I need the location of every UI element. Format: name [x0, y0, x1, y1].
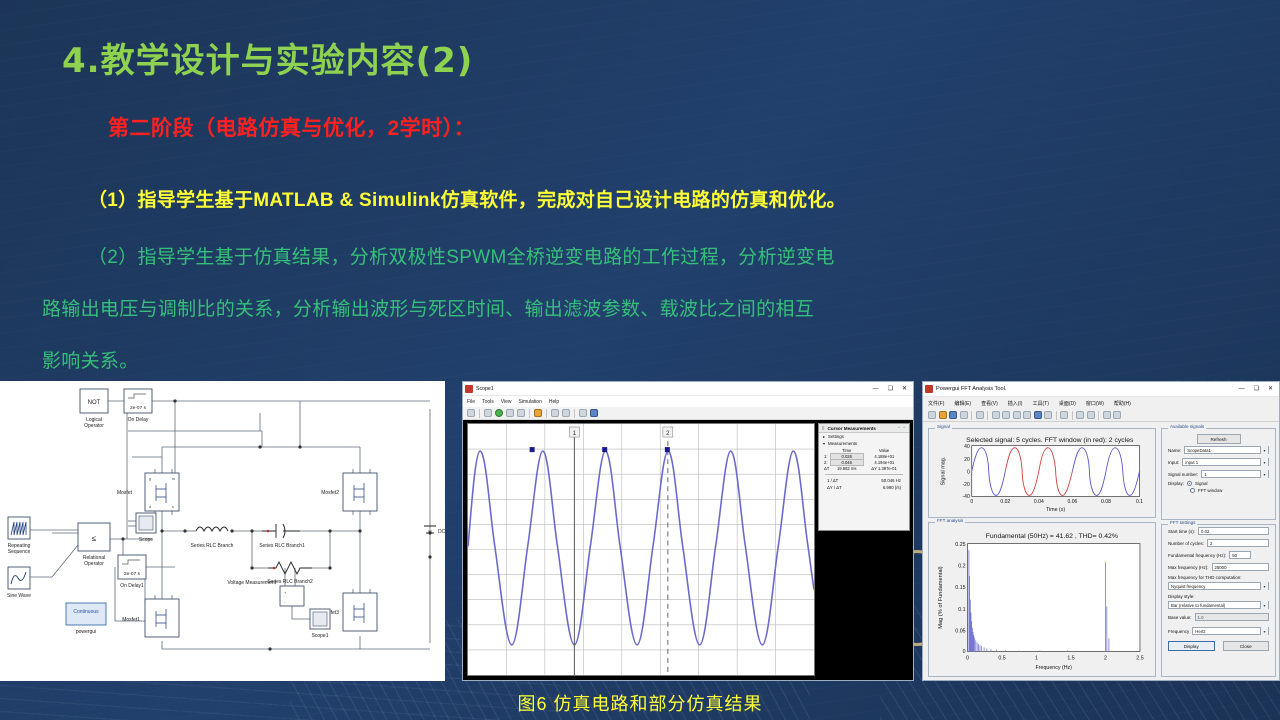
fft-titlebar[interactable]: Powergui FFT Analysis Tool. — ❑ ✕	[923, 382, 1279, 397]
svg-text:NOT: NOT	[88, 400, 101, 406]
base-value-row: Base value: 1.0	[1162, 611, 1275, 623]
svg-text:-20: -20	[962, 482, 970, 488]
svg-text:0.02: 0.02	[1000, 499, 1010, 505]
run-icon[interactable]	[495, 409, 503, 417]
svg-text:20: 20	[964, 457, 970, 463]
close-icon[interactable]: ✕	[1268, 386, 1273, 392]
base-value-input: 1.0	[1195, 613, 1269, 621]
dock-grip-icon[interactable]: ⁞⁞	[822, 426, 824, 431]
svg-text:1: 1	[1035, 655, 1038, 661]
frequency-select[interactable]: Hertz ▾	[1192, 627, 1269, 635]
block-mosfet2: Mosfet2	[321, 473, 377, 511]
svg-text:2: 2	[1104, 655, 1107, 661]
block-relational-operator: ≤ Relational Operator	[78, 523, 110, 567]
svg-text:0.1: 0.1	[1136, 499, 1143, 505]
footer-row-frequency: 1 / ΔT 50.046 Hz	[825, 477, 903, 484]
inv-delta-t-label: 1 / ΔT	[827, 478, 838, 483]
section-subtitle: 第二阶段（电路仿真与优化，2学时）：	[108, 112, 475, 142]
toolbar-separator-3	[1056, 411, 1057, 420]
save-icon[interactable]	[949, 411, 957, 419]
colorbar-icon[interactable]	[1076, 411, 1084, 419]
name-label: Name:	[1168, 448, 1181, 453]
delta-y-value: 1.397e-01	[878, 466, 897, 471]
zoom-in-icon[interactable]	[992, 411, 1000, 419]
measurements-section-toggle[interactable]: ▾ Measurements	[819, 440, 909, 447]
menu-tools[interactable]: 工具(T)	[1032, 400, 1048, 407]
block-repeating-sequence: Repeating Sequence	[8, 517, 31, 555]
fft-menubar[interactable]: 文件(F) 编辑(E) 查看(V) 插入(I) 工具(T) 桌面(D) 窗口(W…	[923, 397, 1279, 409]
svg-text:-40: -40	[962, 494, 970, 500]
cursor-measurements-panel[interactable]: ⁞⁞ Cursor Measurements ▫ ▫ ▸ Settings ▾ …	[818, 423, 910, 531]
input-field-row: Input: input 1 ▾	[1162, 456, 1275, 468]
page-title: 4.教学设计与实验内容(2)	[62, 33, 473, 82]
fft-settings-group: FFT settings Start time (s): 0.02 Number…	[1161, 524, 1276, 677]
thd-row: Nyquist frequency ▾	[1162, 580, 1275, 592]
toolbar-separator-4	[1072, 411, 1073, 420]
menu-window[interactable]: 窗口(W)	[1086, 400, 1104, 407]
expanded-caret-icon: ▾	[823, 441, 825, 446]
slope-value: 6.990 (/s)	[883, 485, 901, 490]
menu-edit[interactable]: 编辑(E)	[954, 400, 971, 407]
svg-text:0: 0	[970, 499, 973, 505]
menu-desktop[interactable]: 桌面(D)	[1059, 400, 1076, 407]
signal-number-label: Signal number:	[1168, 472, 1198, 477]
block-mosfet: g m d s Mosfet	[117, 473, 179, 511]
close-button[interactable]: Close	[1223, 641, 1270, 651]
svg-text:On Delay1: On Delay1	[120, 583, 144, 589]
svg-text:0.5: 0.5	[998, 655, 1005, 661]
close-icon[interactable]: ✕	[902, 386, 907, 392]
toolbar-separator	[971, 411, 972, 420]
scope-window-title: Scope1	[476, 386, 870, 392]
menu-insert[interactable]: 插入(I)	[1008, 400, 1023, 407]
name-value: ScopeData1	[1187, 448, 1211, 453]
block-powergui: Continuous powergui	[66, 603, 106, 635]
cursor-measurements-footer: 1 / ΔT 50.046 Hz ΔY / ΔT 6.990 (/s)	[825, 474, 903, 491]
block-scope: Scope	[136, 513, 156, 543]
zoom-icon[interactable]	[562, 409, 570, 417]
block-series-rlc-branch: Series RLC Branch	[191, 527, 234, 549]
figure-screenshot-strip: Repeating Sequence Sine Wave ≤ Relationa…	[0, 381, 1280, 681]
refresh-button[interactable]: Refresh	[1197, 434, 1241, 444]
toolbar-separator-2	[529, 409, 530, 418]
svg-text:Continuous: Continuous	[73, 609, 99, 615]
dock-controls-icon[interactable]: ▫ ▫	[898, 425, 906, 431]
frequency-row: Frequency Hertz ▾	[1162, 623, 1275, 637]
radio-signal-icon[interactable]	[1187, 481, 1192, 486]
display-style-value: Bar (relative to fundamental)	[1171, 603, 1225, 608]
fft-window-title: Powergui FFT Analysis Tool.	[936, 386, 1236, 392]
display-label: Display:	[1168, 481, 1184, 486]
svg-text:powergui: powergui	[76, 629, 96, 635]
svg-text:Operator: Operator	[84, 561, 104, 567]
toolbar-separator-5	[1098, 411, 1099, 420]
start-time-input[interactable]: 0.02	[1198, 527, 1269, 535]
svg-text:0.1: 0.1	[958, 607, 965, 613]
svg-text:d: d	[149, 505, 151, 509]
scope-toolbar[interactable]	[463, 407, 913, 420]
fft-spectrum-svg: Fundamental (50Hz) = 41.62 , THD= 0.42% …	[933, 527, 1151, 672]
pointer-icon[interactable]	[976, 411, 984, 419]
paragraph-2-line-3: 影响关系。	[42, 346, 139, 373]
toolbar-separator-2	[987, 411, 988, 420]
available-signals-group: Available signals Refresh Name: ScopeDat…	[1161, 428, 1276, 520]
fft-settings-label: FFT settings	[1168, 520, 1197, 525]
slope-label: ΔY / ΔT	[827, 485, 842, 490]
svg-text:DC: DC	[438, 529, 445, 535]
input-select[interactable]: input 1 ▾	[1182, 458, 1269, 466]
svg-text:Signal mag.: Signal mag.	[940, 456, 946, 485]
chevron-down-icon[interactable]: ▾	[1260, 458, 1268, 466]
scope-menubar[interactable]: File Tools View Simulation Help	[463, 396, 913, 407]
matlab-icon	[925, 385, 933, 393]
svg-text:Mosfet2: Mosfet2	[321, 490, 339, 496]
svg-text:1.5: 1.5	[1067, 655, 1074, 661]
signal-number-select[interactable]: 1 ▾	[1201, 470, 1269, 478]
svg-text:Series RLC Branch: Series RLC Branch	[191, 543, 234, 549]
name-field-row: Name: ScopeData1 ▾	[1162, 444, 1275, 456]
signal-number-value: 1	[1204, 472, 1206, 477]
fft-toolbar[interactable]	[923, 409, 1279, 422]
menu-help[interactable]: Help	[549, 399, 559, 405]
fundamental-row: Fundamental frequency (Hz): 50	[1162, 549, 1275, 561]
display-radio-row-2: FFT window	[1162, 487, 1275, 494]
max-frequency-input[interactable]: 25000	[1212, 563, 1269, 571]
chevron-down-icon[interactable]: ▾	[1260, 470, 1268, 478]
frequency-value: Hertz	[1195, 629, 1205, 634]
config-properties-icon[interactable]	[467, 409, 475, 417]
paragraph-1: （1）指导学生基于MATLAB & Simulink仿真软件，完成对自己设计电路…	[88, 185, 846, 212]
signal-number-row: Signal number: 1 ▾	[1162, 468, 1275, 480]
scope-plot-area[interactable]: 1 2 ⁞⁞ Cursor Measurements ▫ ▫	[463, 420, 913, 680]
block-logical-operator: NOT Logical Operator	[80, 389, 108, 429]
menu-view[interactable]: View	[501, 399, 512, 405]
delta-y-label: ΔY	[871, 466, 877, 471]
fft-plot-title: Fundamental (50Hz) = 41.62 , THD= 0.42%	[986, 533, 1118, 540]
display-button[interactable]: Display	[1168, 641, 1215, 651]
pan-icon[interactable]	[1013, 411, 1021, 419]
svg-text:Scope: Scope	[139, 537, 153, 543]
menu-file[interactable]: 文件(F)	[928, 400, 944, 407]
available-signals-label: Available signals	[1168, 424, 1206, 429]
powergui-fft-window[interactable]: Powergui FFT Analysis Tool. — ❑ ✕ 文件(F) …	[922, 381, 1280, 681]
toolbar-separator-4	[574, 409, 575, 418]
show-plot-tools-icon[interactable]	[1113, 411, 1121, 419]
settings-label: Settings	[828, 434, 844, 439]
svg-text:0.06: 0.06	[1068, 499, 1078, 505]
svg-text:Voltage Measurement: Voltage Measurement	[227, 580, 276, 586]
input-value: input 1	[1185, 460, 1198, 465]
open-icon[interactable]	[939, 411, 947, 419]
settings-button-row: Display Close	[1162, 637, 1275, 651]
svg-text:0.2: 0.2	[958, 564, 965, 570]
fft-spectrum-plot[interactable]: Fundamental (50Hz) = 41.62 , THD= 0.42% …	[933, 527, 1151, 672]
fft-analysis-group-label: FFT analysis	[935, 518, 965, 523]
start-time-label: Start time (s):	[1168, 529, 1195, 534]
scope-titlebar[interactable]: Scope1 — ❑ ✕	[463, 382, 913, 396]
cycles-label: Number of cycles:	[1168, 541, 1204, 546]
display-style-label: Display style:	[1162, 592, 1275, 599]
block-sine-wave: Sine Wave	[7, 567, 31, 599]
menu-view[interactable]: 查看(V)	[981, 400, 998, 407]
svg-text:g: g	[149, 477, 151, 481]
selected-signal-plot[interactable]: Selected signal: 5 cycles. FFT window (i…	[933, 433, 1151, 513]
block-on-delay1: 2e-07 s On Delay1	[118, 555, 146, 589]
scope-waveform-plot[interactable]: 1 2	[467, 423, 815, 676]
svg-text:0: 0	[967, 469, 970, 475]
svg-text:Sequence: Sequence	[8, 549, 31, 555]
svg-text:Mosfet1: Mosfet1	[122, 617, 140, 623]
cycles-row: Number of cycles: 2	[1162, 537, 1275, 549]
svg-text:2.5: 2.5	[1136, 655, 1143, 661]
svg-text:m: m	[172, 477, 175, 481]
toolbar-separator	[479, 409, 480, 418]
svg-text:On Delay: On Delay	[128, 417, 149, 423]
simulink-model-panel[interactable]: Repeating Sequence Sine Wave ≤ Relationa…	[0, 381, 445, 681]
delta-t-label: ΔT	[823, 466, 830, 472]
hide-plot-tools-icon[interactable]	[1103, 411, 1111, 419]
base-value-label: Base value:	[1168, 615, 1192, 620]
svg-text:Mosfet: Mosfet	[117, 490, 133, 496]
radio-signal-label[interactable]: Signal	[1195, 481, 1208, 486]
display-style-select[interactable]: Bar (relative to fundamental) ▾	[1168, 601, 1269, 609]
link-plot-icon[interactable]	[1060, 411, 1068, 419]
svg-text:Operator: Operator	[84, 423, 104, 429]
svg-text:0.05: 0.05	[955, 628, 965, 634]
input-label: Input:	[1168, 460, 1179, 465]
start-time-row: Start time (s): 0.02	[1162, 525, 1275, 537]
selected-signal-svg: Selected signal: 5 cycles. FFT window (i…	[933, 433, 1151, 513]
svg-text:s: s	[172, 505, 174, 509]
fundamental-label: Fundamental frequency (Hz):	[1168, 553, 1226, 558]
max-frequency-label: Max frequency (Hz):	[1168, 565, 1209, 570]
max-frequency-row: Max frequency (Hz): 25000	[1162, 561, 1275, 573]
menu-tools[interactable]: Tools	[482, 399, 494, 405]
signal-group-label: Signal	[935, 424, 952, 429]
maximize-icon[interactable]: ❑	[888, 386, 893, 392]
delta-t-value: 19.982 ms	[830, 466, 863, 472]
svg-text:0.08: 0.08	[1101, 499, 1111, 505]
inv-delta-t-value: 50.046 Hz	[881, 478, 901, 483]
radio-fft-window-icon[interactable]	[1190, 488, 1195, 493]
scope-window[interactable]: Scope1 — ❑ ✕ File Tools View Simulation …	[462, 381, 914, 681]
svg-text:≤: ≤	[92, 534, 97, 543]
block-dc-source: DC	[424, 526, 445, 535]
figure-caption: 图6 仿真电路和部分仿真结果	[0, 690, 1280, 716]
fundamental-input[interactable]: 50	[1229, 551, 1251, 559]
svg-text:2e-07 s: 2e-07 s	[130, 405, 147, 411]
maximize-icon[interactable]: ❑	[1254, 386, 1259, 392]
name-select[interactable]: ScopeData1 ▾	[1184, 446, 1269, 454]
style-icon[interactable]	[590, 409, 598, 417]
block-on-delay: 2e-07 s On Delay	[124, 389, 152, 423]
thd-select[interactable]: Nyquist frequency ▾	[1168, 582, 1269, 590]
settings-section-toggle[interactable]: ▸ Settings	[819, 433, 909, 440]
measurements-label: Measurements	[828, 441, 857, 446]
menu-file[interactable]: File	[467, 399, 475, 405]
svg-text:40: 40	[964, 444, 970, 450]
radio-fft-window-label[interactable]: FFT window	[1198, 488, 1222, 493]
svg-text:Sine Wave: Sine Wave	[7, 593, 31, 599]
collapsed-caret-icon: ▸	[823, 434, 825, 439]
data-cursor-icon[interactable]	[1034, 411, 1042, 419]
signal-plot-title: Selected signal: 5 cycles. FFT window (i…	[966, 437, 1134, 444]
minimize-icon[interactable]: —	[873, 386, 879, 392]
chevron-down-icon[interactable]: ▾	[1260, 627, 1268, 635]
trigger-icon[interactable]	[579, 409, 587, 417]
chevron-down-icon[interactable]: ▾	[1260, 601, 1268, 609]
legend-icon[interactable]	[1087, 411, 1095, 419]
frequency-label: Frequency	[1168, 629, 1189, 634]
svg-text:2e-07 s: 2e-07 s	[124, 571, 141, 577]
menu-simulation[interactable]: Simulation	[519, 399, 542, 405]
svg-text:Scope1: Scope1	[312, 633, 329, 639]
svg-text:0: 0	[966, 655, 969, 661]
delta-row: ΔT 19.982 ms ΔY 1.397e-01	[823, 466, 905, 472]
simulink-canvas[interactable]: Repeating Sequence Sine Wave ≤ Relationa…	[0, 381, 445, 681]
print-icon[interactable]	[960, 411, 968, 419]
display-style-row: Bar (relative to fundamental) ▾	[1162, 599, 1275, 611]
minimize-icon[interactable]: —	[1239, 386, 1245, 392]
chevron-down-icon[interactable]: ▾	[1260, 446, 1268, 454]
toolbar-separator-3	[546, 409, 547, 418]
footer-row-slope: ΔY / ΔT 6.990 (/s)	[825, 484, 903, 491]
svg-text:Series RLC Branch1: Series RLC Branch1	[259, 543, 305, 549]
brush-icon[interactable]	[1044, 411, 1052, 419]
fft-analysis-group: FFT analysis Fundamental (50Hz) = 41.62 …	[928, 522, 1156, 677]
block-mosfet1: Mosfet1	[122, 599, 179, 637]
stop-icon[interactable]	[517, 409, 525, 417]
zoom-out-icon[interactable]	[1002, 411, 1010, 419]
chevron-down-icon[interactable]: ▾	[1260, 582, 1268, 590]
cycles-input[interactable]: 2	[1207, 539, 1269, 547]
svg-text:0: 0	[963, 649, 966, 655]
cursor-measurements-icon[interactable]	[551, 409, 559, 417]
svg-text:0.15: 0.15	[955, 585, 965, 591]
cursor-measurements-table: Time Value 1: 0.026 4.188e+01 2: 0.046 4…	[823, 448, 905, 471]
menu-help[interactable]: 帮助(H)	[1114, 400, 1131, 407]
rotate-3d-icon[interactable]	[1023, 411, 1031, 419]
cursor-measurements-title: Cursor Measurements	[827, 426, 876, 431]
thd-value: Nyquist frequency	[1171, 584, 1205, 589]
new-figure-icon[interactable]	[928, 411, 936, 419]
svg-text:0.04: 0.04	[1034, 499, 1044, 505]
step-forward-icon[interactable]	[506, 409, 514, 417]
block-scope1: Scope1	[310, 609, 330, 639]
display-radio-row-1: Display: Signal	[1162, 480, 1275, 487]
scope-waveform-svg: 1 2	[468, 424, 814, 675]
block-series-rlc-branch1: Series RLC Branch1	[259, 524, 305, 549]
simulation-data-inspector-icon[interactable]	[534, 409, 542, 417]
paragraph-2-line-2: 路输出电压与调制比的关系，分析输出波形与死区时间、输出滤波参数、载波比之间的相互	[42, 294, 814, 321]
thd-label: Max frequency for THD computation:	[1162, 573, 1275, 580]
signal-group: Signal Selected signal: 5 cycles. FFT wi…	[928, 428, 1156, 518]
svg-text:Mag (% of Fundamental): Mag (% of Fundamental)	[938, 566, 944, 629]
matlab-icon	[465, 385, 473, 393]
svg-text:Frequency (Hz): Frequency (Hz)	[1036, 665, 1073, 671]
step-back-icon[interactable]	[484, 409, 492, 417]
paragraph-2-line-1: （2）指导学生基于仿真结果，分析双极性SPWM全桥逆变电路的工作过程，分析逆变电	[88, 242, 835, 269]
svg-text:Time (s): Time (s)	[1046, 507, 1065, 513]
svg-text:0.25: 0.25	[955, 542, 965, 548]
cursor-measurements-header[interactable]: ⁞⁞ Cursor Measurements ▫ ▫	[819, 424, 909, 433]
